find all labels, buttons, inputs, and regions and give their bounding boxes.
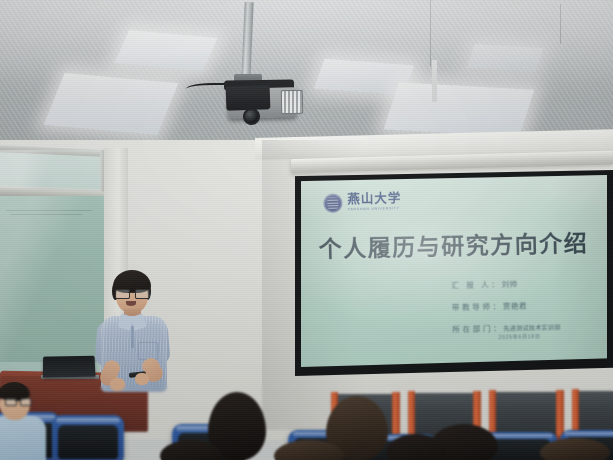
presenter — [88, 268, 184, 408]
ceiling — [0, 0, 613, 152]
university-name-en: YANSHAN UNIVERSITY — [348, 207, 402, 212]
projector-lens — [243, 108, 260, 125]
audience-member-glasses-icon — [5, 398, 31, 405]
projector-shadowed-face — [226, 85, 271, 111]
slide-meta-line: 汇 报 人：刘帅 — [451, 277, 597, 291]
meta-label: 带教导师： — [452, 302, 503, 312]
university-logo-row: 燕山大学 YANSHAN UNIVERSITY — [323, 192, 401, 213]
slide-meta-block: 汇 报 人：刘帅 带教导师：贾艳君 所在部门：先进测试技术实训部 — [451, 277, 598, 335]
presenter-hand-right — [135, 373, 149, 385]
slide-date: 2025年6月18日 — [498, 333, 540, 341]
slide-content: 燕山大学 YANSHAN UNIVERSITY 个人履历与研究方向介绍 汇 报 … — [301, 175, 607, 367]
yanshan-university-seal-icon — [323, 194, 342, 213]
seat-rim — [56, 418, 119, 424]
meta-label: 汇 报 人： — [451, 280, 501, 290]
seat-back — [58, 425, 118, 459]
meta-label: 所在部门： — [452, 324, 503, 334]
glasses-lens — [115, 289, 130, 299]
meta-value: 贾艳君 — [503, 301, 527, 311]
glasses-lens — [135, 289, 150, 299]
presenter-glasses-icon — [115, 289, 149, 297]
university-name: 燕山大学 — [347, 193, 401, 207]
presenter-shirt-pocket — [138, 342, 158, 360]
projection-screen: 燕山大学 YANSHAN UNIVERSITY 个人履历与研究方向介绍 汇 报 … — [301, 175, 607, 367]
lecture-seat — [52, 415, 124, 460]
slide-meta-line: 带教导师：贾艳君 — [452, 299, 598, 313]
glasses-lens — [20, 398, 32, 406]
audience-member-shirt — [0, 416, 46, 460]
presenter-shirt-placket — [131, 326, 134, 348]
presenter-hand-left — [110, 378, 125, 391]
desk-top — [496, 392, 560, 437]
seat-rim — [564, 432, 613, 437]
meta-value: 刘帅 — [501, 280, 517, 289]
slide-title: 个人履历与研究方向介绍 — [301, 224, 607, 265]
projector-vent — [281, 90, 303, 114]
ceiling-shading — [0, 0, 613, 152]
meta-value: 先进测试技术实训部 — [503, 325, 561, 333]
glasses-bridge — [128, 292, 135, 293]
lecture-hall-photo: 燕山大学 YANSHAN UNIVERSITY 个人履历与研究方向介绍 汇 报 … — [0, 0, 613, 460]
presenter-mouth — [126, 301, 136, 306]
